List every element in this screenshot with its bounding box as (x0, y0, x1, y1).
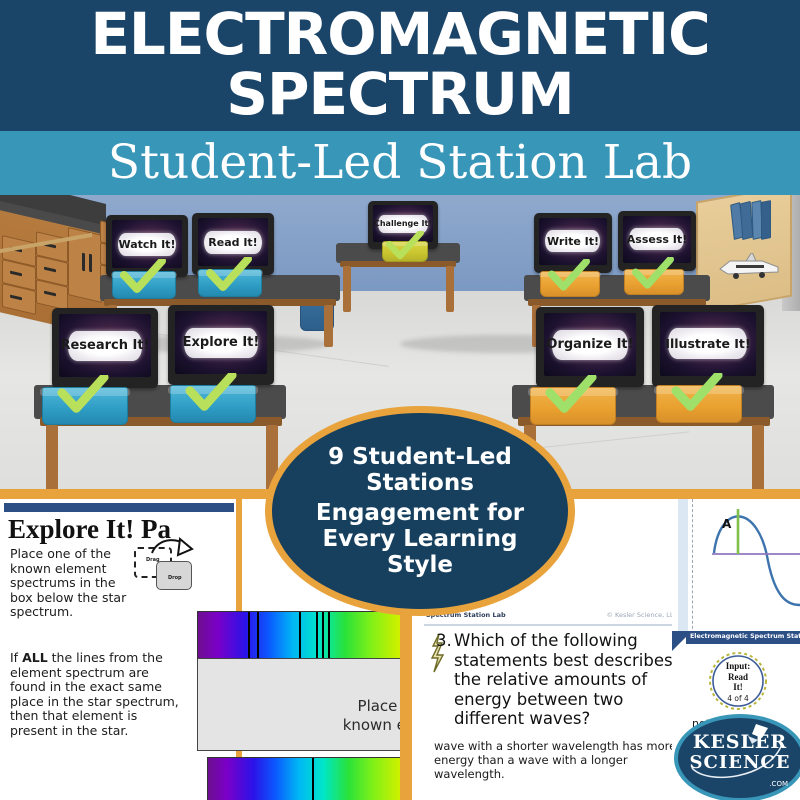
monitor-screen: Illustrate It! (660, 312, 756, 376)
paragraph-2-bold: ALL (22, 650, 48, 665)
logo-line-1: KESLER (678, 732, 800, 752)
handle-icon (82, 253, 85, 272)
absorption-line (316, 612, 318, 659)
poster-title-line1: ELECTROMAGNETIC (0, 4, 800, 64)
checkmark-icon (386, 231, 424, 266)
station-label: Assess It! (627, 233, 687, 246)
station-plaque: Organize It! (552, 330, 628, 360)
station-plaque: Write It! (545, 230, 600, 252)
space-shuttle-model (716, 253, 782, 288)
assessment-question-sheet[interactable]: Spectrum Station Lab © Kesler Science, L… (400, 609, 682, 800)
element-spectrum-strip[interactable] (207, 757, 415, 800)
poster-root: ELECTROMAGNETIC SPECTRUM Student-Led Sta… (0, 0, 800, 800)
table-leg (46, 425, 58, 497)
station-label: Illustrate It! (665, 336, 750, 351)
station-label: Organize It! (546, 337, 633, 352)
spectrum-gradient (198, 612, 414, 659)
station-plaque: Assess It! (629, 228, 684, 250)
worksheet-paragraph-1: Place one of the known element spectrums… (10, 547, 135, 620)
sheet-copyright: © Kesler Science, LLC (606, 611, 678, 619)
station-seal: Input: Read It! 4 of 4 (708, 651, 768, 711)
wave-curve (672, 501, 800, 621)
checkmark-icon (632, 257, 674, 296)
absorption-line (248, 612, 250, 659)
station-plaque: Read It! (204, 231, 262, 254)
kesler-science-logo[interactable]: KESLER SCIENCE .COM (674, 714, 800, 800)
seal-line-2: Read (708, 672, 768, 683)
drop-label: Drop (168, 575, 182, 581)
station-plaque: Watch It! (118, 233, 176, 256)
station-label: Write It! (547, 235, 599, 248)
checkmark-icon (184, 373, 238, 418)
station-plaque: Explore It! (184, 328, 259, 358)
logo-line-2: SCIENCE (678, 753, 800, 773)
station-label: Read It! (208, 236, 257, 249)
amplitude-label: A (722, 517, 731, 531)
star-spectrum-strip (197, 611, 415, 660)
poster-title-line2: SPECTRUM (0, 64, 800, 124)
station-plaque: Illustrate It! (668, 328, 747, 359)
worksheet-paragraph-2: If ALL the lines from the element spectr… (10, 651, 185, 739)
curved-arrow-icon (150, 535, 198, 572)
station-plaque: Challenge It! (378, 215, 427, 233)
monitor-screen: Research It! (59, 314, 150, 376)
monitor-screen: Explore It! (175, 311, 266, 373)
checkmark-icon (670, 373, 724, 418)
poster-subtitle: Student-Led Station Lab (0, 133, 800, 193)
badge-line-5: Style (316, 552, 524, 578)
checkmark-icon (56, 375, 110, 420)
paragraph-2-pre: If (10, 650, 22, 665)
checkmark-icon (120, 259, 166, 300)
checkmark-icon (206, 257, 252, 298)
table-leg (324, 305, 333, 347)
badge-line-3: Engagement for (316, 500, 524, 526)
worksheet-title: Explore It! Pa (8, 514, 171, 545)
feature-badge: 9 Student-Led Stations Engagement for Ev… (265, 406, 575, 616)
sheet-header-rule (424, 624, 682, 626)
answer-option-text[interactable]: wave with a shorter wavelength has more … (434, 739, 682, 781)
badge-subline: Engagement for Every Learning Style (316, 500, 524, 578)
station-label: Explore It! (183, 335, 260, 350)
seal-line-1: Input: (708, 661, 768, 672)
table-leg (752, 425, 764, 497)
badge-line-1: 9 Student-Led (328, 444, 512, 470)
absorption-line (299, 612, 301, 659)
book (761, 200, 771, 240)
checkmark-icon (544, 375, 598, 420)
poster-title: ELECTROMAGNETIC SPECTRUM (0, 4, 800, 124)
emission-line (312, 758, 314, 800)
absorption-line (328, 612, 330, 659)
station-label: Challenge It! (374, 219, 432, 228)
station-label: Research It! (60, 338, 149, 353)
seal-text: Input: Read It! (708, 661, 768, 693)
question-text: Which of the following statements best d… (454, 631, 676, 729)
checkmark-icon (548, 259, 590, 298)
station-plaque: Research It! (68, 331, 143, 361)
wave-diagram-panel[interactable]: A (672, 499, 800, 639)
badge-line-2: Stations (328, 470, 512, 496)
monitor-screen: Write It! (539, 218, 606, 265)
logo-tld: .COM (769, 780, 788, 788)
absorption-line (322, 612, 324, 659)
question-number: 3. (436, 631, 452, 650)
badge-line-4: Every Learning (316, 526, 524, 552)
seal-line-3: It! (708, 682, 768, 693)
monitor-screen: Organize It! (544, 313, 637, 375)
spectrum-dropzone[interactable]: Place s known el (197, 658, 415, 751)
table-leg (446, 266, 454, 312)
monitor-screen: Assess It! (623, 216, 690, 263)
card-header-title: Electromagnetic Spectrum Station Lab (690, 633, 800, 640)
station-label: Watch It! (118, 238, 175, 251)
table-leg (343, 266, 351, 312)
worksheet-header-bar (4, 503, 234, 512)
absorption-line (257, 612, 259, 659)
badge-headline: 9 Student-Led Stations (328, 444, 512, 496)
handle-icon (89, 254, 92, 273)
spectrum-gradient (208, 758, 414, 800)
seal-count: 4 of 4 (708, 694, 768, 703)
